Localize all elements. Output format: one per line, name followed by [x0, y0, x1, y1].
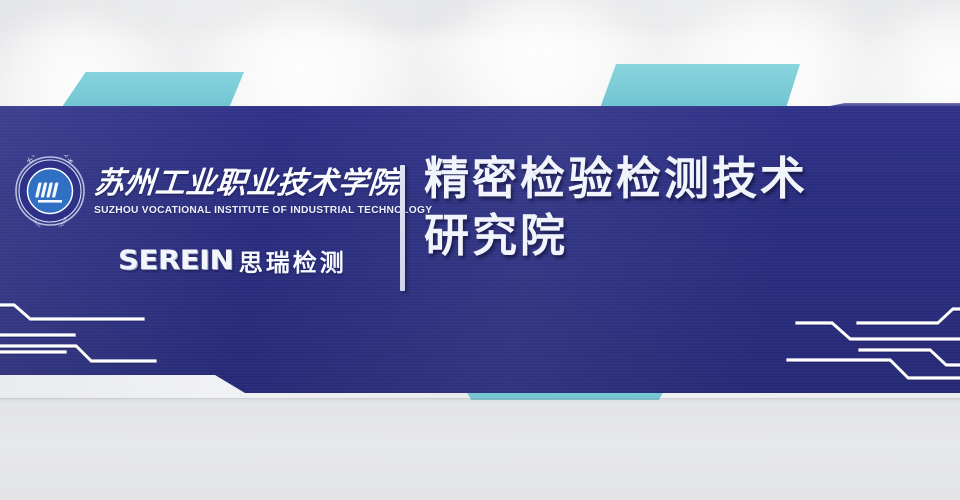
institute-title-line2: 研究院 [424, 208, 954, 265]
university-name-cn: 苏州工业职业技术学院 [93, 168, 434, 200]
teal-panel-left [62, 72, 244, 107]
brand-block: 苏州工业职业技术学院 SUZHOU VOCATIONAL INSTITUTE [14, 155, 386, 278]
vertical-divider-bar [400, 165, 405, 291]
university-name-group: 苏州工业职业技术学院 SUZHOU VOCATIONAL INSTITUTE O… [94, 166, 432, 216]
institute-title: 精密检验检测技术 研究院 [424, 151, 954, 264]
signage-scene: 苏州工业职业技术学院 SUZHOU VOCATIONAL INSTITUTE [0, 0, 960, 500]
university-identity-row: 苏州工业职业技术学院 SUZHOU VOCATIONAL INSTITUTE [14, 155, 386, 227]
teal-panel-top-center [600, 64, 800, 108]
university-crest: 苏州工业职业技术学院 SUZHOU VOCATIONAL INSTITUTE [14, 155, 86, 227]
university-name-en: SUZHOU VOCATIONAL INSTITUTE OF INDUSTRIA… [94, 205, 432, 216]
partner-brand-row: SEREIN 思瑞检测 [118, 243, 386, 278]
serein-name-cn: 思瑞检测 [239, 243, 347, 278]
institute-title-line1: 精密检验检测技术 [424, 152, 808, 205]
crest-icon: 苏州工业职业技术学院 SUZHOU VOCATIONAL INSTITUTE [14, 155, 86, 227]
band-content: 苏州工业职业技术学院 SUZHOU VOCATIONAL INSTITUTE [0, 103, 960, 403]
serein-wordmark: SEREIN [118, 245, 233, 276]
floor [0, 400, 960, 500]
